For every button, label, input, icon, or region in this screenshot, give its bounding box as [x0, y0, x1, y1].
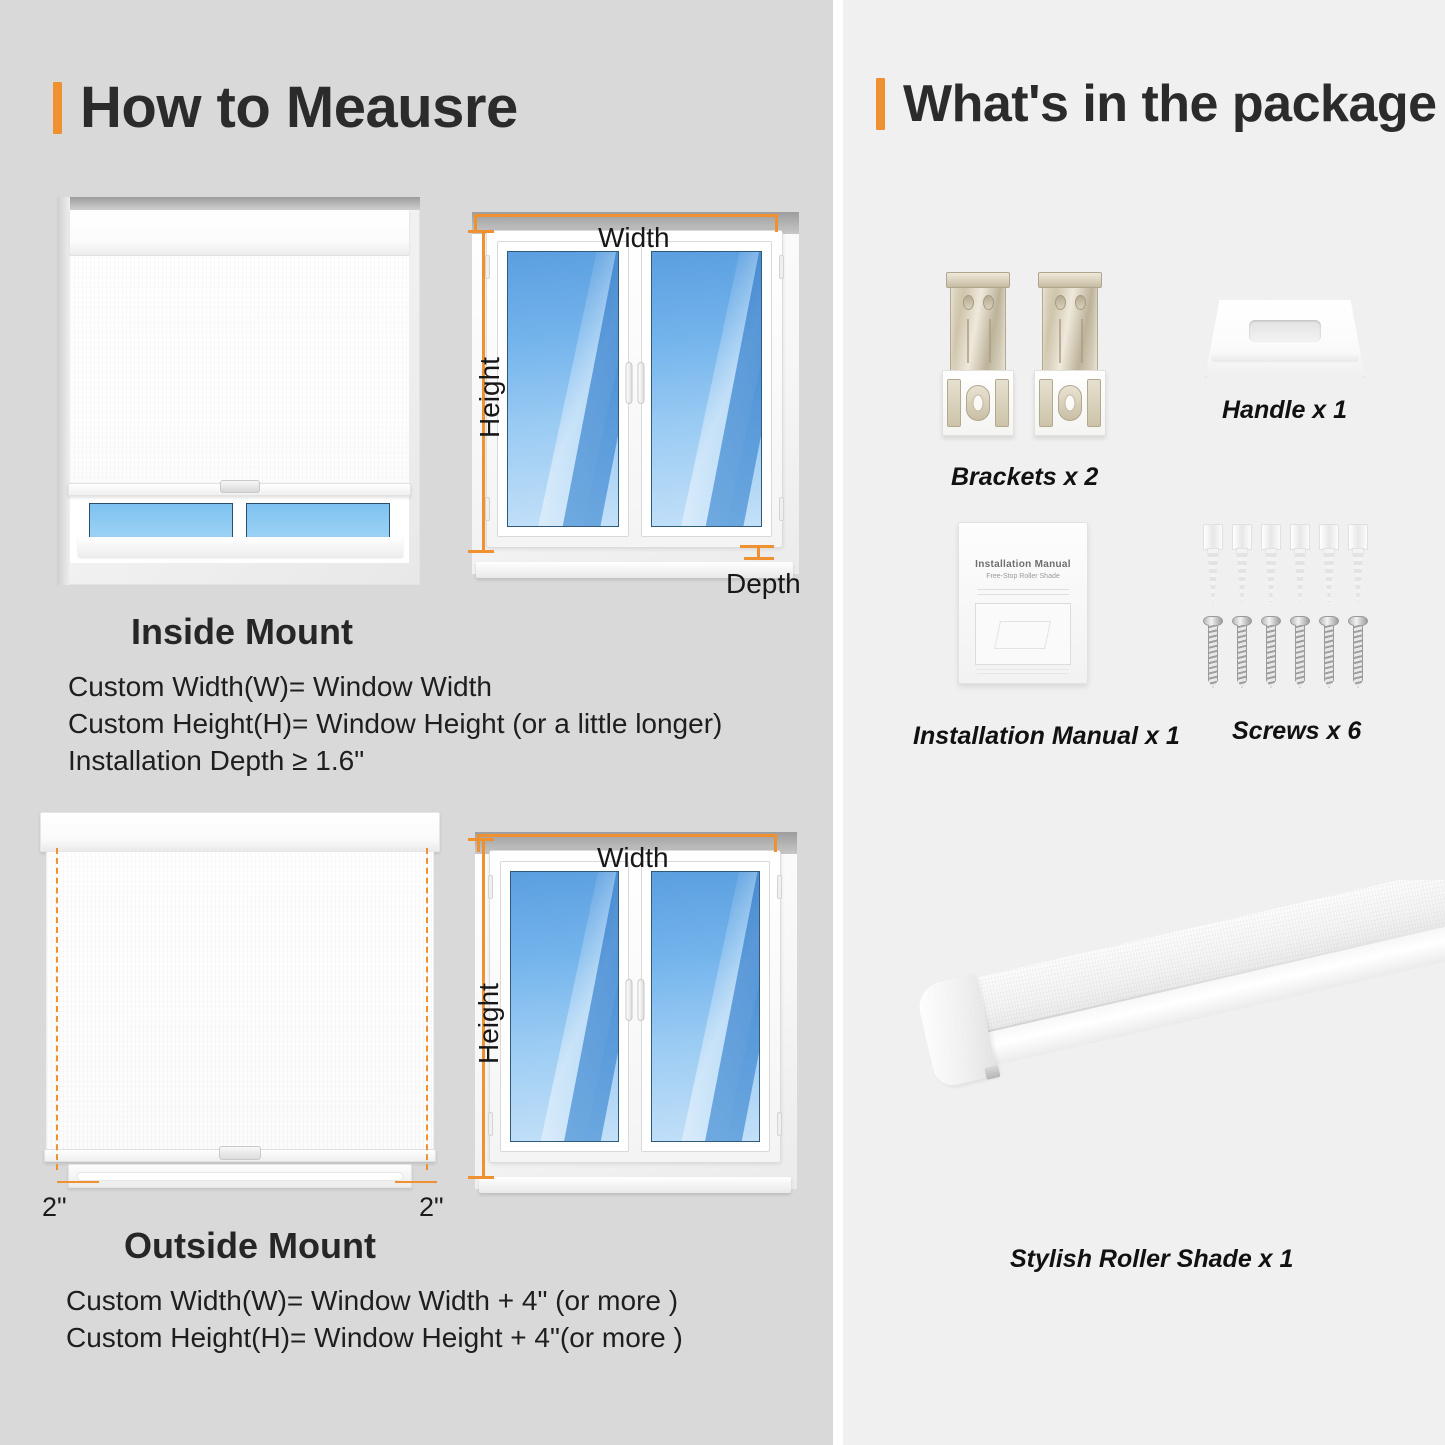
manual-cover-text-lines — [977, 585, 1069, 595]
depth-label: Depth — [726, 568, 801, 600]
manual-cover: Installation Manual Free-Stop Roller Sha… — [958, 522, 1088, 684]
overhang-guide-right — [426, 848, 428, 1170]
screw-2 — [1232, 616, 1252, 688]
accent-bar-icon — [53, 82, 62, 134]
window-sill-ledge-2 — [479, 1177, 791, 1193]
screws-label: Screws x 6 — [1232, 717, 1361, 746]
outside-shade-fabric — [46, 852, 434, 1152]
width-cap-right — [775, 214, 778, 232]
right-heading-text: What's in the package — [903, 74, 1437, 134]
outside-mount-line-2: Custom Height(H)= Window Height + 4"(or … — [66, 1319, 683, 1356]
window-sill — [78, 537, 403, 557]
hinge-bottom-right-2 — [777, 1112, 782, 1136]
manual-cover-subtitle: Free-Stop Roller Shade — [959, 573, 1087, 580]
window-sash-left-2 — [500, 861, 629, 1152]
hinge-top-left — [485, 255, 490, 279]
height-cap-top — [468, 230, 494, 233]
window-pane-left-2 — [510, 871, 619, 1142]
how-to-measure-panel: How to Meausre — [0, 0, 833, 1445]
height-label-2: Height — [473, 983, 505, 1064]
inside-mount-line-2: Custom Height(H)= Window Height (or a li… — [68, 705, 722, 742]
manual-cover-footer — [977, 669, 1069, 674]
left-heading: How to Meausre — [53, 74, 518, 141]
roller-shade-image — [900, 880, 1445, 1210]
bracket-2-rib-b — [1081, 319, 1083, 363]
roller-shade-tube — [917, 880, 1445, 1085]
panel-divider — [833, 0, 843, 1445]
inside-mount-window-diagram: Width Height Depth — [452, 200, 807, 600]
bracket-1-hole-b — [983, 295, 994, 310]
width-dimension-line-2 — [477, 834, 777, 837]
bracket-1 — [942, 272, 1014, 440]
bracket-1-rib-a — [967, 319, 969, 363]
window-sash-right — [641, 241, 773, 537]
shade-fabric — [70, 256, 409, 483]
window-handles-icon-2 — [626, 979, 645, 1021]
bracket-1-oval — [966, 385, 990, 421]
wall-anchor-3 — [1261, 524, 1281, 602]
handle-slot — [1249, 320, 1321, 342]
screw-5 — [1319, 616, 1339, 688]
installation-manual-image: Installation Manual Free-Stop Roller Sha… — [958, 522, 1088, 684]
window-pane-right — [651, 251, 763, 527]
overhang-right-label: 2" — [419, 1192, 444, 1223]
window-sash-left — [497, 241, 629, 537]
bracket-1-rib-b — [989, 319, 991, 363]
height-cap-bottom-2 — [468, 1176, 494, 1179]
outside-shade-headrail — [40, 812, 440, 852]
overhang-arrow-right — [395, 1181, 437, 1183]
height-cap-bottom — [468, 550, 494, 553]
bracket-2-hole-b — [1075, 295, 1086, 310]
hinge-bottom-left — [485, 497, 490, 521]
screw-6 — [1348, 616, 1368, 688]
wall-anchor-4 — [1290, 524, 1310, 602]
bracket-2-hole-a — [1055, 295, 1066, 310]
wall-anchor-1 — [1203, 524, 1223, 602]
manual-cover-title: Installation Manual — [959, 559, 1087, 570]
brackets-label: Brackets x 2 — [951, 463, 1098, 492]
bracket-2-tab-right — [1087, 379, 1101, 427]
roller-shade-label: Stylish Roller Shade x 1 — [1010, 1245, 1293, 1274]
brackets-image — [938, 272, 1118, 447]
inside-mount-line-3: Installation Depth ≥ 1.6" — [68, 742, 722, 779]
window-pane-left — [507, 251, 619, 527]
screw-3 — [1261, 616, 1281, 688]
wall-anchor-5 — [1319, 524, 1339, 602]
bracket-1-tab-right — [995, 379, 1009, 427]
inside-mount-lines: Custom Width(W)= Window Width Custom Hei… — [68, 668, 722, 780]
handle-label: Handle x 1 — [1222, 396, 1347, 425]
right-heading: What's in the package — [876, 74, 1437, 134]
manual-cover-diagram — [975, 603, 1071, 665]
width-cap-left-2 — [477, 834, 480, 852]
window-pane-right-2 — [651, 871, 760, 1142]
wall-anchor-6 — [1348, 524, 1368, 602]
bracket-2-top-flange — [1038, 272, 1102, 288]
inside-mount-shade-illustration — [57, 197, 420, 585]
bracket-2-tab-left — [1039, 379, 1053, 427]
outside-mount-line-1: Custom Width(W)= Window Width + 4" (or m… — [66, 1282, 683, 1319]
outside-mount-shade-illustration — [40, 812, 440, 1197]
overhang-left-label: 2" — [42, 1192, 67, 1223]
hinge-bottom-left-2 — [488, 1112, 493, 1136]
width-cap-right-2 — [774, 834, 777, 852]
outside-mount-lines: Custom Width(W)= Window Width + 4" (or m… — [66, 1282, 683, 1356]
bracket-1-top-flange — [946, 272, 1010, 288]
window-frame-2 — [489, 850, 781, 1163]
window-handles-icon — [625, 362, 644, 404]
hinge-bottom-right — [779, 497, 784, 521]
bracket-1-hole-a — [963, 295, 974, 310]
width-label: Width — [598, 222, 670, 254]
outside-mount-window-diagram: Width Height — [455, 820, 805, 1215]
bracket-1-plate — [942, 370, 1014, 436]
handle-image — [1205, 300, 1365, 378]
roller-shade-end-pin — [984, 1065, 1000, 1080]
height-label: Height — [474, 357, 506, 438]
outside-window-sill — [68, 1164, 412, 1188]
left-heading-text: How to Meausre — [80, 74, 518, 141]
bracket-2-oval — [1058, 385, 1082, 421]
outside-window-sill-inner — [77, 1172, 403, 1181]
overhang-guide-left — [56, 848, 58, 1170]
inside-mount-line-1: Custom Width(W)= Window Width — [68, 668, 722, 705]
shade-pull-tab — [220, 480, 260, 493]
shade-valance — [70, 210, 409, 256]
handle-lip — [1211, 354, 1359, 362]
wall-anchor-2 — [1232, 524, 1252, 602]
screws-and-anchors-image — [1203, 524, 1373, 689]
width-dimension-line — [474, 214, 778, 217]
infographic-page: How to Meausre — [0, 0, 1445, 1445]
window-sash-right-2 — [641, 861, 770, 1152]
hinge-top-left-2 — [488, 875, 493, 899]
depth-cap — [757, 545, 760, 559]
height-cap-top-2 — [468, 838, 494, 841]
window-frame — [486, 230, 783, 548]
hinge-top-right — [779, 255, 784, 279]
accent-bar-icon-2 — [876, 78, 885, 130]
hinge-top-right-2 — [777, 875, 782, 899]
installation-manual-label: Installation Manual x 1 — [913, 722, 1180, 751]
outside-mount-title: Outside Mount — [124, 1225, 376, 1267]
screw-1 — [1203, 616, 1223, 688]
bracket-2 — [1034, 272, 1106, 440]
bracket-2-plate — [1034, 370, 1106, 436]
bracket-1-tab-left — [947, 379, 961, 427]
screw-4 — [1290, 616, 1310, 688]
width-label-2: Width — [597, 842, 669, 874]
overhang-arrow-left — [57, 1181, 99, 1183]
inside-mount-title: Inside Mount — [131, 611, 353, 653]
outside-shade-pull-tab — [219, 1146, 261, 1160]
bracket-2-rib-a — [1059, 319, 1061, 363]
recess-inner — [70, 210, 409, 563]
